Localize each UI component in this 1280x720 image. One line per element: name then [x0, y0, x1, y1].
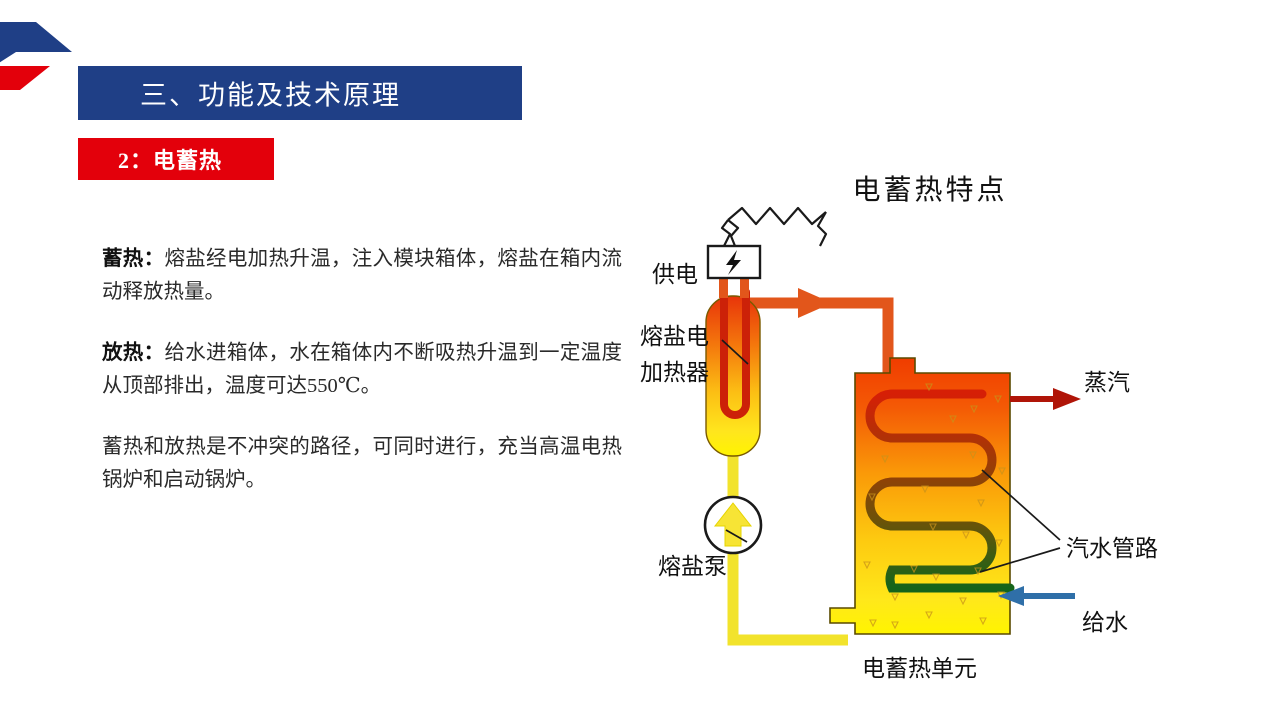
label-steam: 蒸汽	[1084, 370, 1130, 395]
paragraph-summary-text: 蓄热和放热是不冲突的路径，可同时进行，充当高温电热锅炉和启动锅炉。	[102, 436, 622, 491]
section-heading-bar: 三、功能及技术原理	[78, 66, 522, 120]
salt-pump	[705, 497, 761, 553]
label-steam-water-pipe: 汽水管路	[1066, 536, 1158, 561]
diagram-container: 电蓄热特点	[630, 168, 1230, 698]
diagram-svg: 供电 熔盐电 加热器 熔盐泵 蒸汽 汽水管路 给水 电蓄热单元	[630, 168, 1230, 698]
sub-badge: 2：电蓄热	[78, 138, 274, 180]
corner-logo	[0, 22, 72, 90]
label-feed-water: 给水	[1082, 610, 1128, 635]
label-storage-unit: 电蓄热单元	[862, 656, 977, 681]
storage-tank	[830, 358, 1010, 634]
sub-badge-text: 2：电蓄热	[118, 143, 222, 175]
heater-vessel	[706, 296, 760, 456]
steam-arrow-icon	[1053, 388, 1081, 410]
corner-logo-shape	[0, 22, 72, 90]
salt-electric-heater	[706, 208, 826, 456]
label-power-supply: 供电	[652, 262, 698, 287]
paragraph-release-text: 给水进箱体，水在箱体内不断吸热升温到一定温度从顶部排出，温度可达550℃。	[102, 342, 622, 397]
tank-body	[830, 358, 1010, 634]
paragraph-storage-lead: 蓄热：	[102, 248, 164, 270]
body-text-block: 蓄热：熔盐经电加热升温，注入模块箱体，熔盐在箱内流动释放热量。 放热：给水进箱体…	[102, 243, 622, 497]
hot-flow-arrow-icon	[798, 288, 832, 318]
steam-outlet	[1010, 388, 1081, 410]
power-supply-wire-left	[722, 220, 730, 246]
label-salt-heater-line1: 熔盐电	[640, 324, 709, 349]
paragraph-storage: 蓄热：熔盐经电加热升温，注入模块箱体，熔盐在箱内流动释放热量。	[102, 243, 622, 309]
slide-root: 三、功能及技术原理 2：电蓄热 蓄热：熔盐经电加热升温，注入模块箱体，熔盐在箱内…	[0, 0, 1280, 720]
logo-red-shape	[0, 66, 50, 90]
paragraph-summary: 蓄热和放热是不冲突的路径，可同时进行，充当高温电热锅炉和启动锅炉。	[102, 431, 622, 497]
section-heading-text: 三、功能及技术原理	[140, 74, 401, 113]
label-salt-pump: 熔盐泵	[658, 554, 727, 579]
paragraph-release: 放热：给水进箱体，水在箱体内不断吸热升温到一定温度从顶部排出，温度可达550℃。	[102, 337, 622, 403]
paragraph-release-lead: 放热：	[102, 342, 164, 364]
label-salt-heater-line2: 加热器	[640, 360, 709, 385]
power-supply-wire-icon	[728, 208, 826, 246]
paragraph-storage-text: 熔盐经电加热升温，注入模块箱体，熔盐在箱内流动释放热量。	[102, 248, 622, 303]
